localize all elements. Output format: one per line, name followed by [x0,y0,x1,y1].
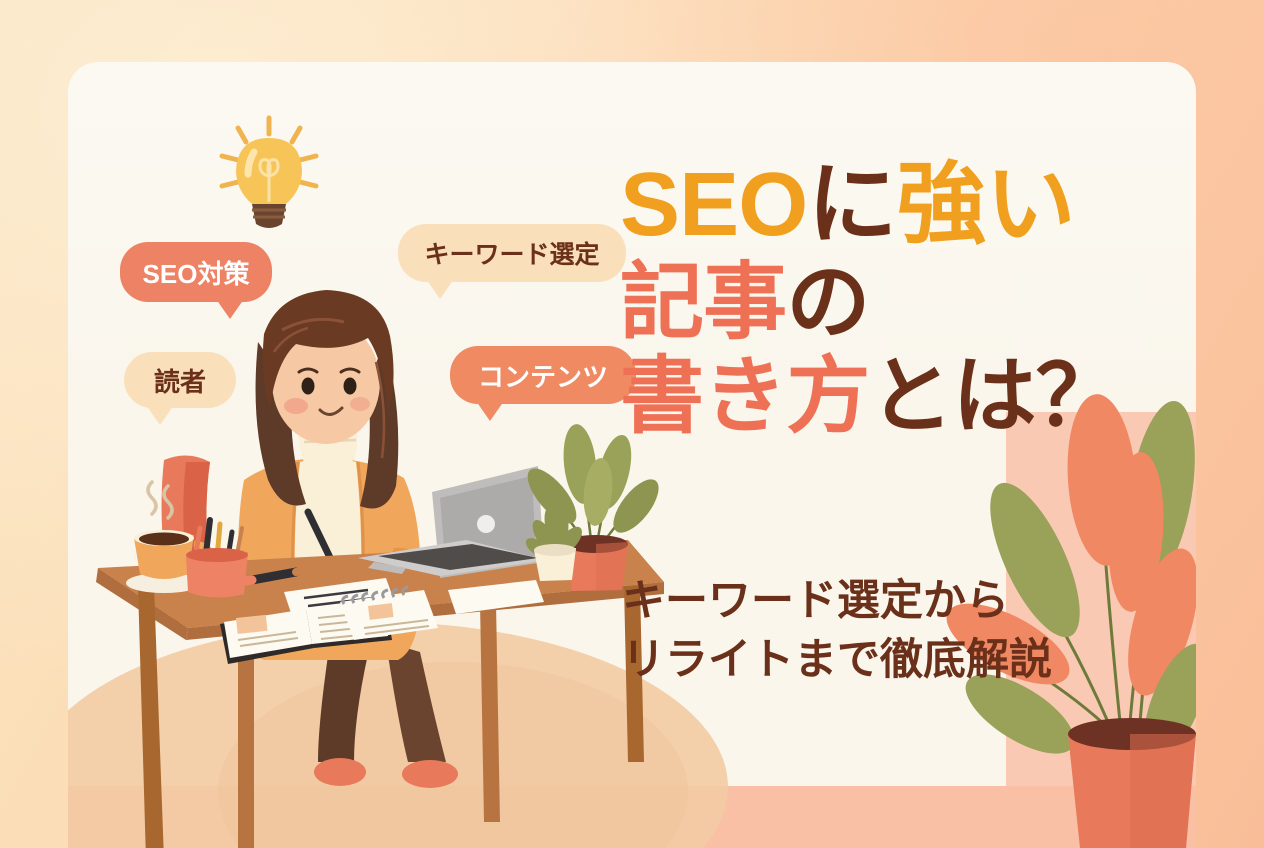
title-seg: とは？ [869,349,1118,443]
bubble-contents[interactable]: コンテンツ [450,346,636,404]
title-seg: 書き方 [620,349,869,443]
hero-card: SEO対策 キーワード選定 読者 コンテンツ SEOに強い 記事の 書き方とは？ [68,62,1196,848]
page-title: SEOに強い 記事の 書き方とは？ [620,160,1180,448]
title-seg: SEO [620,155,807,255]
title-seg: に [807,155,896,255]
title-line-1: SEOに強い [620,160,1180,250]
page-subtitle: キーワード選定から リライトまで徹底解説 [622,572,1162,691]
bubble-tail [146,405,174,425]
title-seg: 記事 [620,255,786,349]
bubble-label: 読者 [154,362,206,399]
bubble-label: コンテンツ [478,357,608,394]
subtitle-line-1: キーワード選定から [622,572,1162,631]
bubble-tail [216,299,244,319]
title-seg: 強い [896,155,1074,255]
bubble-keyword[interactable]: キーワード選定 [398,224,626,282]
title-line-3: 書き方とは？ [620,354,1180,438]
subtitle-line-2: リライトまで徹底解説 [622,631,1162,690]
woman-character [238,290,458,788]
bubble-tail [476,401,504,421]
lightbulb-icon [214,112,324,242]
bubble-seo-taisaku[interactable]: SEO対策 [120,242,272,302]
bubble-label: SEO対策 [143,254,250,291]
bubble-reader[interactable]: 読者 [124,352,236,408]
bubble-tail [426,279,454,299]
bubble-label: キーワード選定 [424,235,599,271]
title-seg: の [786,255,869,349]
title-line-2: 記事の [620,260,1180,344]
banner-canvas: SEO対策 キーワード選定 読者 コンテンツ SEOに強い 記事の 書き方とは？ [0,0,1264,848]
